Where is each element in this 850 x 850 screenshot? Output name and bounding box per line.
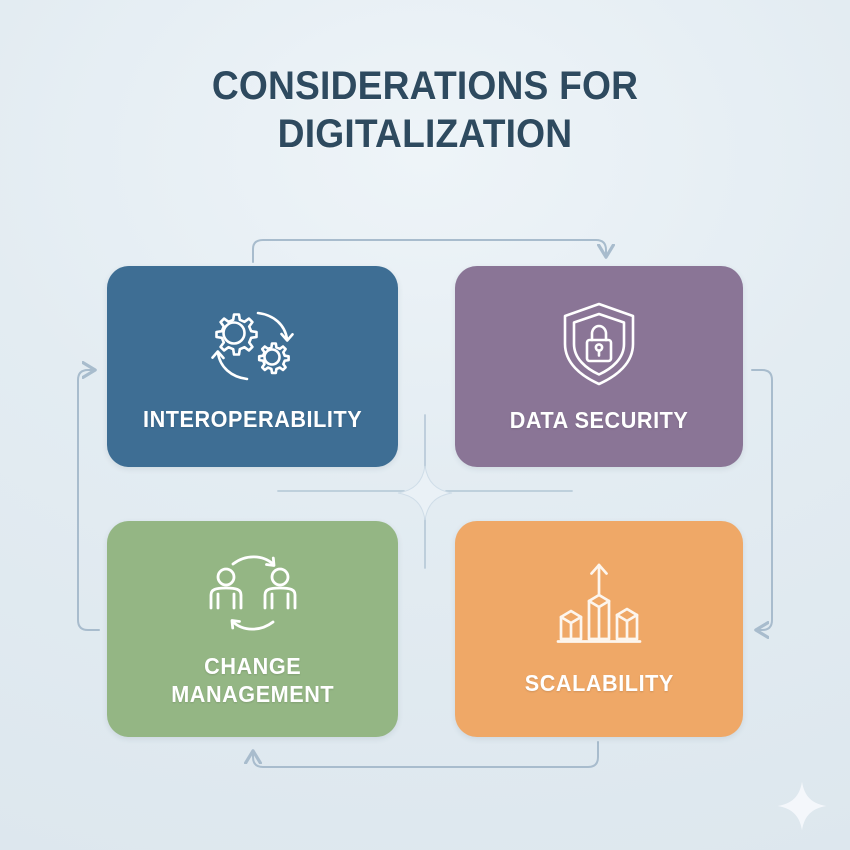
card-change-management[interactable]: CHANGE MANAGEMENT bbox=[107, 521, 398, 737]
card-label-change-management: CHANGE MANAGEMENT bbox=[171, 652, 334, 708]
card-interoperability[interactable]: INTEROPERABILITY bbox=[107, 266, 398, 467]
card-label-scalability: SCALABILITY bbox=[524, 669, 673, 697]
card-label-interoperability: INTEROPERABILITY bbox=[143, 405, 362, 433]
shield-lock-icon bbox=[557, 300, 641, 388]
four-point-star-icon bbox=[394, 462, 456, 524]
infographic-canvas: CONSIDERATIONS FOR DIGITALIZATION bbox=[0, 0, 850, 850]
gears-cycle-icon bbox=[201, 301, 305, 387]
left-connector bbox=[78, 370, 99, 630]
four-point-star-icon bbox=[774, 778, 830, 834]
card-label-line-1: CHANGE bbox=[204, 653, 301, 679]
card-data-security[interactable]: DATA SECURITY bbox=[455, 266, 743, 467]
top-connector bbox=[253, 240, 606, 262]
title-line-1: CONSIDERATIONS FOR bbox=[30, 62, 821, 110]
right-connector bbox=[752, 370, 772, 630]
card-label-line-2: MANAGEMENT bbox=[171, 681, 334, 707]
bottom-connector bbox=[253, 742, 598, 767]
card-label-data-security: DATA SECURITY bbox=[510, 406, 689, 434]
people-cycle-icon bbox=[201, 550, 305, 638]
title-line-2: DIGITALIZATION bbox=[30, 110, 821, 158]
growth-bars-arrow-icon bbox=[551, 561, 647, 651]
card-scalability[interactable]: SCALABILITY bbox=[455, 521, 743, 737]
page-title: CONSIDERATIONS FOR DIGITALIZATION bbox=[0, 62, 850, 158]
